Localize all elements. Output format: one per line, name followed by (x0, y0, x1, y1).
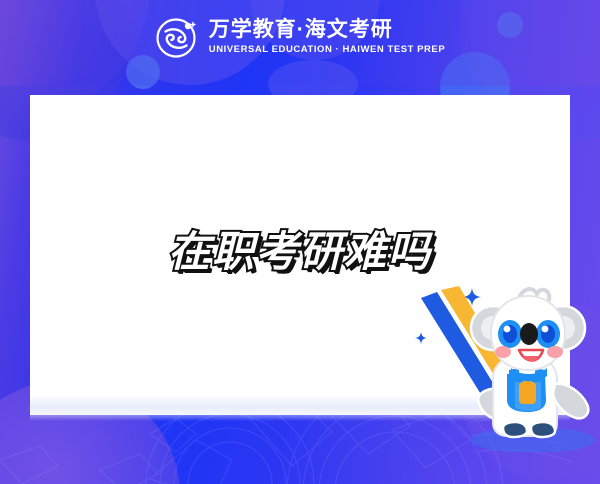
mascot-right-cheek (547, 346, 563, 358)
mascot-badge (519, 382, 536, 404)
page-title-area: 在职考研难吗 (0, 218, 600, 279)
koala-mascot (415, 272, 600, 452)
brand-name-cn: 万学教育·海文考研 (209, 18, 445, 42)
mascot-nose (520, 323, 538, 345)
mascot-right-arm (553, 384, 588, 419)
mascot-right-shoe (531, 422, 555, 437)
mascot-left-cheek (495, 346, 511, 358)
banner-canvas: 万学教育·海文考研 UNIVERSAL EDUCATION · HAIWEN T… (0, 0, 600, 484)
page-title: 在职考研难吗 (168, 218, 432, 279)
brand-name-en: UNIVERSAL EDUCATION · HAIWEN TEST PREP (209, 43, 445, 56)
mascot-left-shoe (503, 422, 527, 437)
brand-header: 万学教育·海文考研 UNIVERSAL EDUCATION · HAIWEN T… (0, 11, 600, 63)
haiwen-circle-swirl-logo-icon (155, 15, 199, 59)
